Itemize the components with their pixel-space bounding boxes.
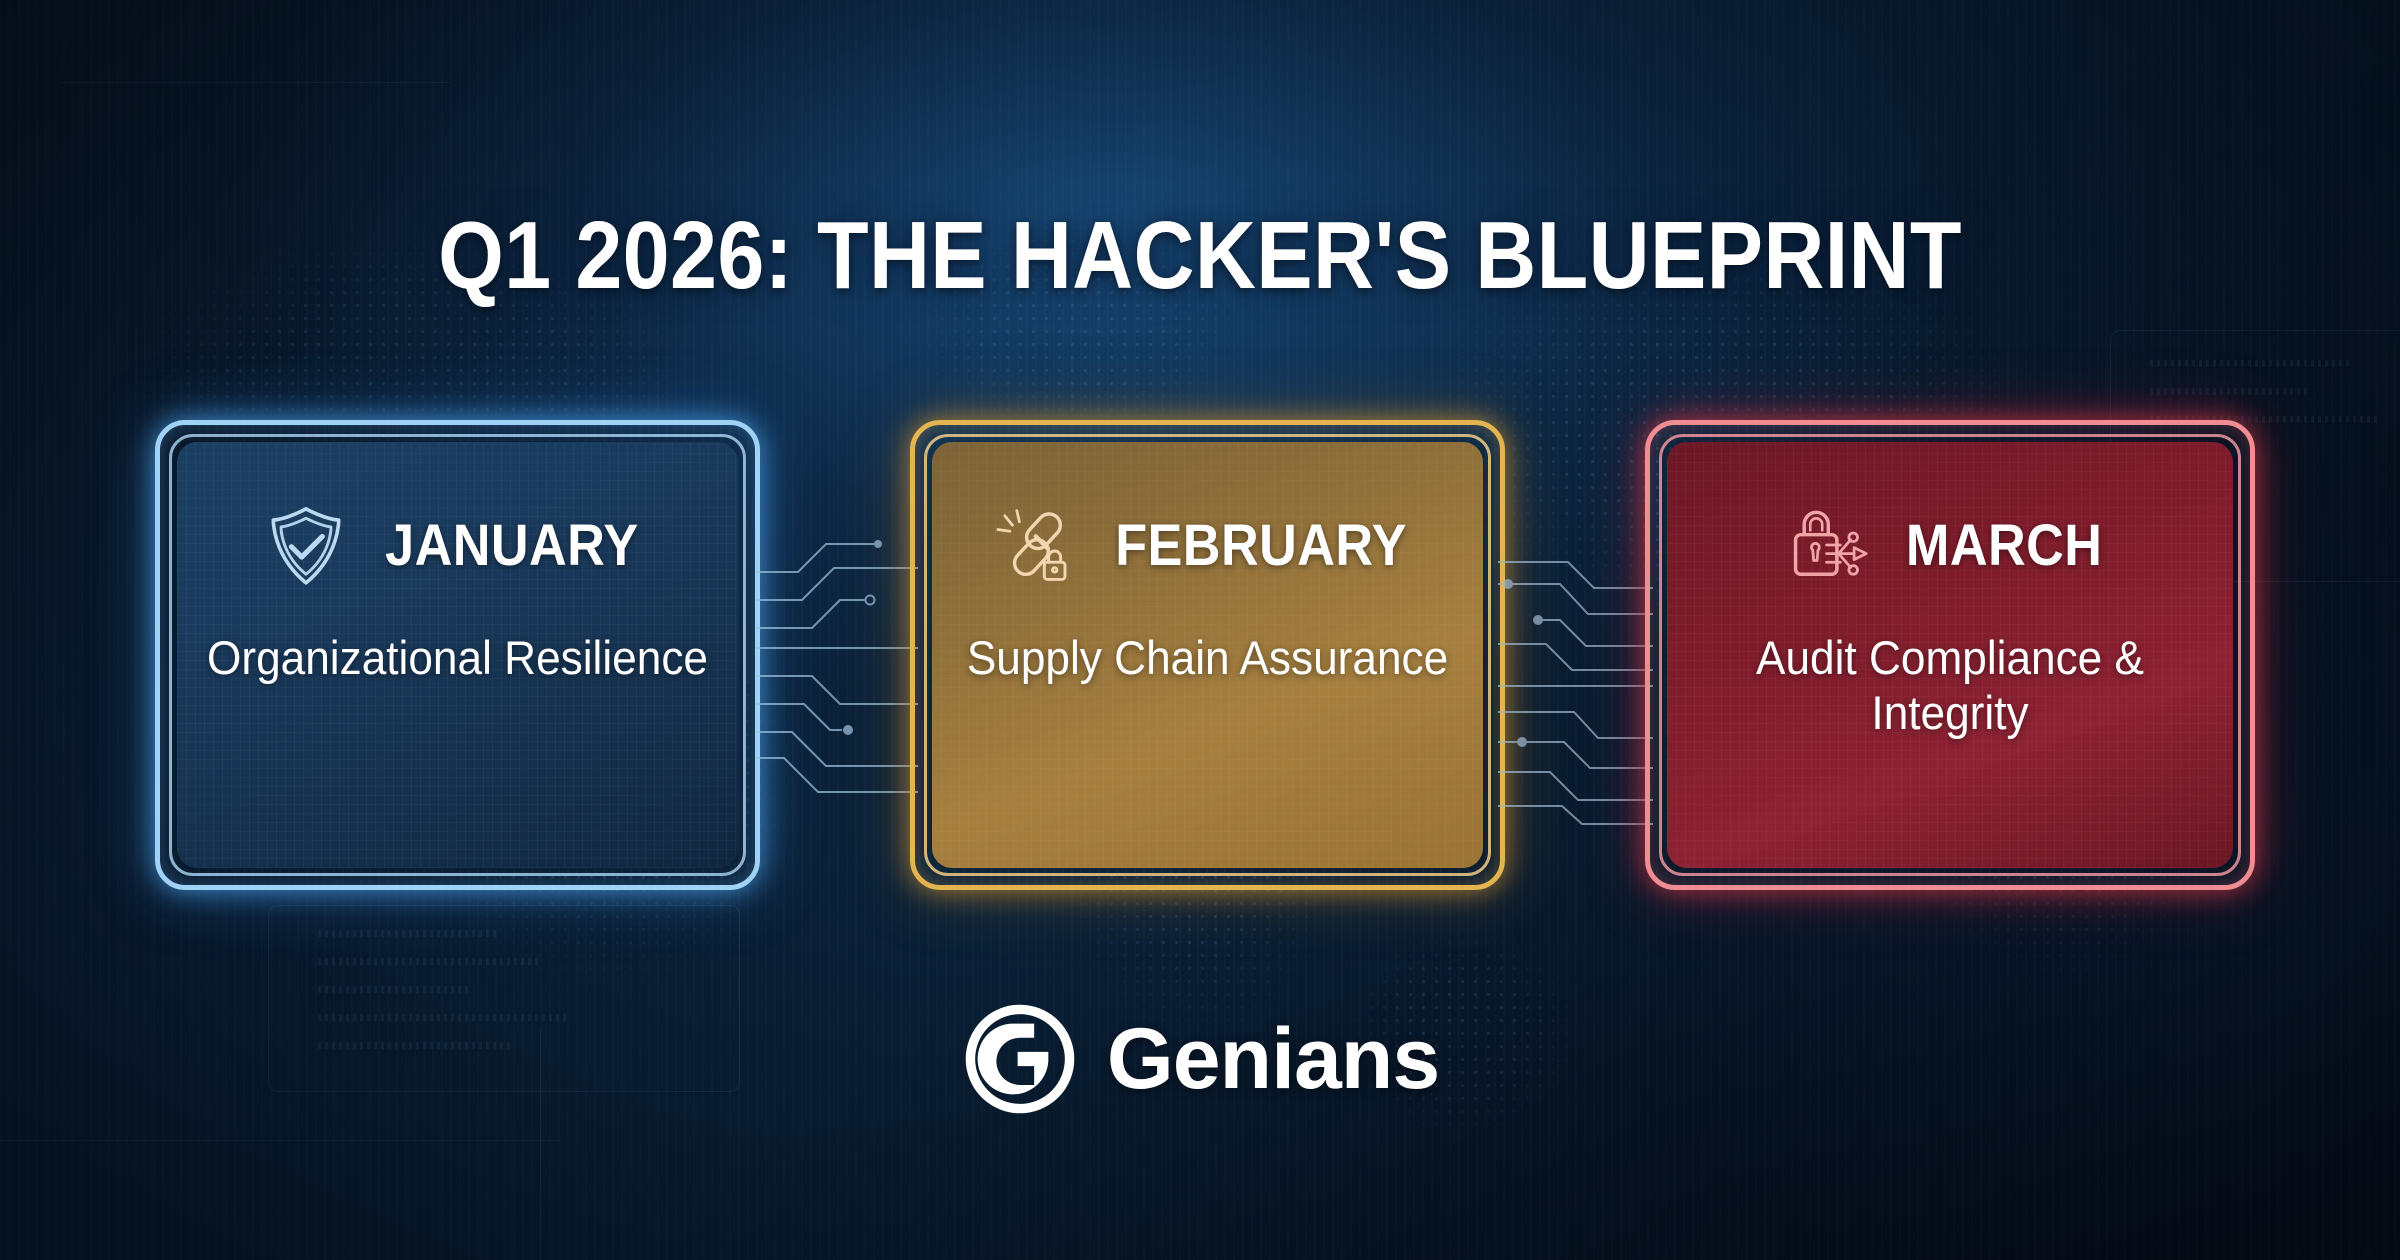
shield-check-icon	[263, 502, 349, 588]
card-theme-label: Supply Chain Assurance	[952, 630, 1462, 685]
page-title: Q1 2026: THE HACKER'S BLUEPRINT	[144, 208, 2256, 304]
decorative-code-block	[2150, 360, 2350, 367]
decorative-code-block	[318, 930, 498, 937]
card-january[interactable]: JANUARY Organizational Resilience	[155, 420, 760, 890]
decorative-code-block	[318, 986, 468, 993]
card-header-row: FEBRUARY	[910, 502, 1505, 588]
circuit-connector-february-march	[1498, 480, 1653, 840]
card-month-label: JANUARY	[385, 512, 639, 579]
brand-name: Genians	[1107, 1010, 1439, 1109]
circuit-connector-january-february	[756, 480, 918, 840]
decorative-code-block	[2150, 388, 2310, 395]
card-theme-label: Organizational Resilience	[198, 630, 718, 685]
hud-line-horizontal	[0, 1140, 560, 1141]
card-february[interactable]: FEBRUARY Supply Chain Assurance	[910, 420, 1505, 890]
brand-logo: Genians	[0, 1000, 2400, 1118]
infographic-canvas: Q1 2026: THE HACKER'S BLUEPRINT JANUARY …	[0, 0, 2400, 1260]
card-header-row: MARCH	[1645, 502, 2255, 588]
hud-line-top	[60, 82, 450, 83]
padlock-network-icon	[1787, 502, 1873, 588]
card-theme-label: Audit Compliance & Integrity	[1688, 630, 2213, 741]
card-month-label: MARCH	[1906, 512, 2103, 579]
genians-g-logo-icon	[961, 1000, 1079, 1118]
broken-chain-lock-icon	[991, 502, 1077, 588]
card-header-row: JANUARY	[155, 502, 760, 588]
decorative-code-block	[318, 958, 538, 965]
card-month-label: FEBRUARY	[1116, 512, 1408, 579]
card-march[interactable]: MARCH Audit Compliance & Integrity	[1645, 420, 2255, 890]
